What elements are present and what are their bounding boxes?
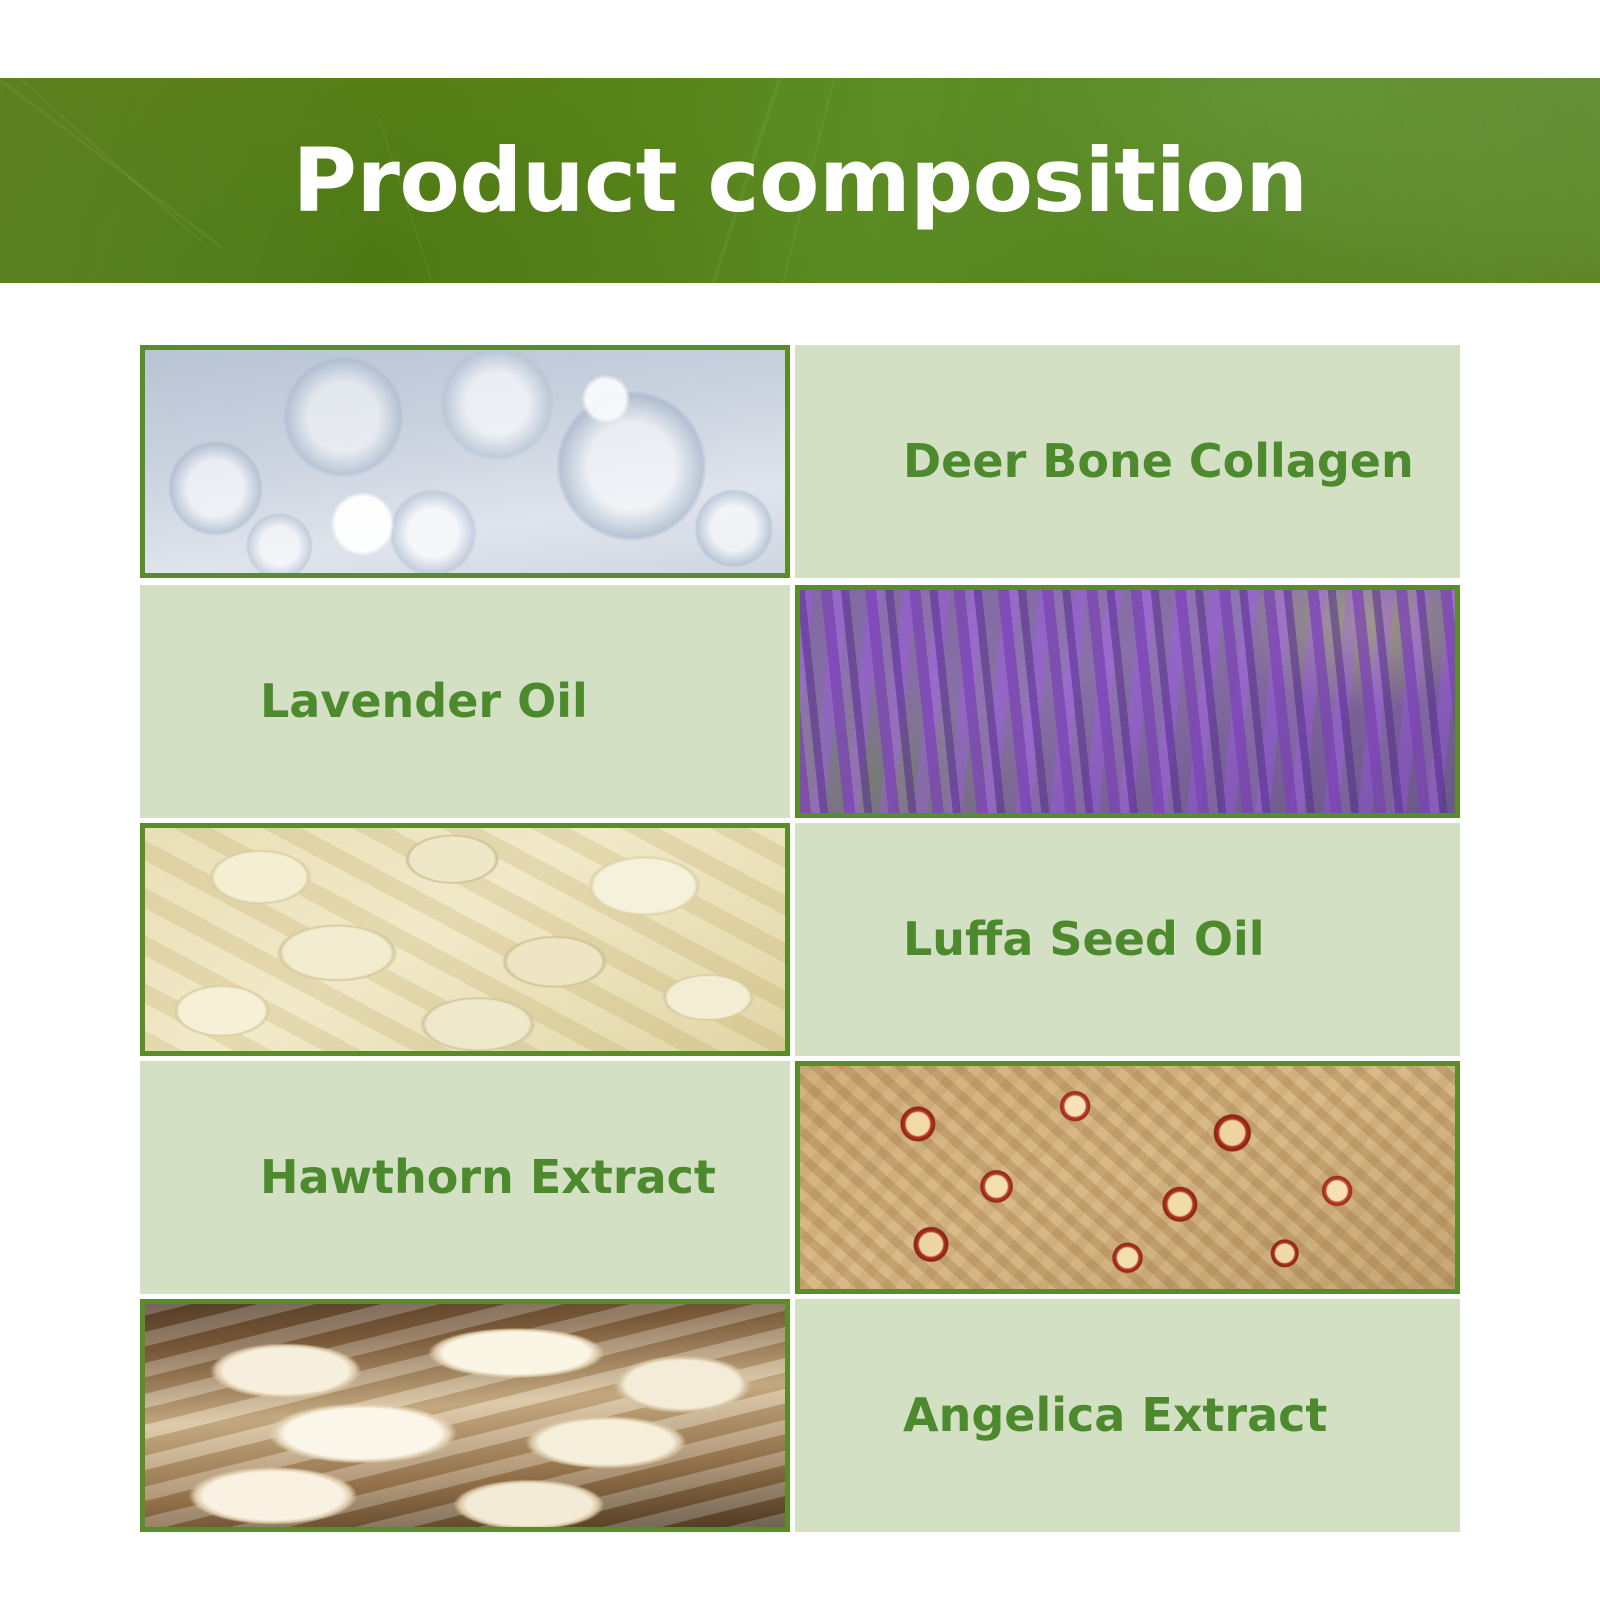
- ingredient-name: Luffa Seed Oil: [903, 914, 1265, 965]
- ingredient-image-luffa[interactable]: [140, 823, 790, 1056]
- ingredient-image-angelica[interactable]: [140, 1299, 790, 1532]
- composition-row: Lavender Oil: [140, 585, 1460, 818]
- ingredient-label-cell-collagen[interactable]: Deer Bone Collagen: [795, 345, 1460, 578]
- header-banner: Product composition: [0, 78, 1600, 283]
- composition-row: Deer Bone Collagen: [140, 345, 1460, 578]
- hawthorn-berries-photo: [800, 1066, 1455, 1289]
- ingredient-image-hawthorn[interactable]: [795, 1061, 1460, 1294]
- ingredient-name: Deer Bone Collagen: [903, 436, 1414, 487]
- collagen-bubbles-photo: [145, 350, 785, 573]
- lavender-flowers-photo: [800, 590, 1455, 813]
- ingredient-label-cell-hawthorn[interactable]: Hawthorn Extract: [140, 1061, 790, 1294]
- composition-grid: Deer Bone Collagen Lavender Oil Luffa Se…: [140, 345, 1460, 1541]
- ingredient-image-collagen[interactable]: [140, 345, 790, 578]
- ingredient-name: Angelica Extract: [903, 1390, 1327, 1441]
- ingredient-label-cell-luffa[interactable]: Luffa Seed Oil: [795, 823, 1460, 1056]
- ingredient-image-lavender[interactable]: [795, 585, 1460, 818]
- page-title: Product composition: [0, 78, 1600, 283]
- ingredient-name: Hawthorn Extract: [260, 1152, 716, 1203]
- ingredient-label-cell-angelica[interactable]: Angelica Extract: [795, 1299, 1460, 1532]
- ingredient-label-cell-lavender[interactable]: Lavender Oil: [140, 585, 790, 818]
- composition-row: Luffa Seed Oil: [140, 823, 1460, 1056]
- product-composition-page: Product composition Deer Bone Collagen L…: [0, 0, 1600, 1600]
- ingredient-name: Lavender Oil: [260, 676, 588, 727]
- composition-row: Hawthorn Extract: [140, 1061, 1460, 1294]
- composition-row: Angelica Extract: [140, 1299, 1460, 1532]
- luffa-seeds-photo: [145, 828, 785, 1051]
- angelica-root-slices-photo: [145, 1304, 785, 1527]
